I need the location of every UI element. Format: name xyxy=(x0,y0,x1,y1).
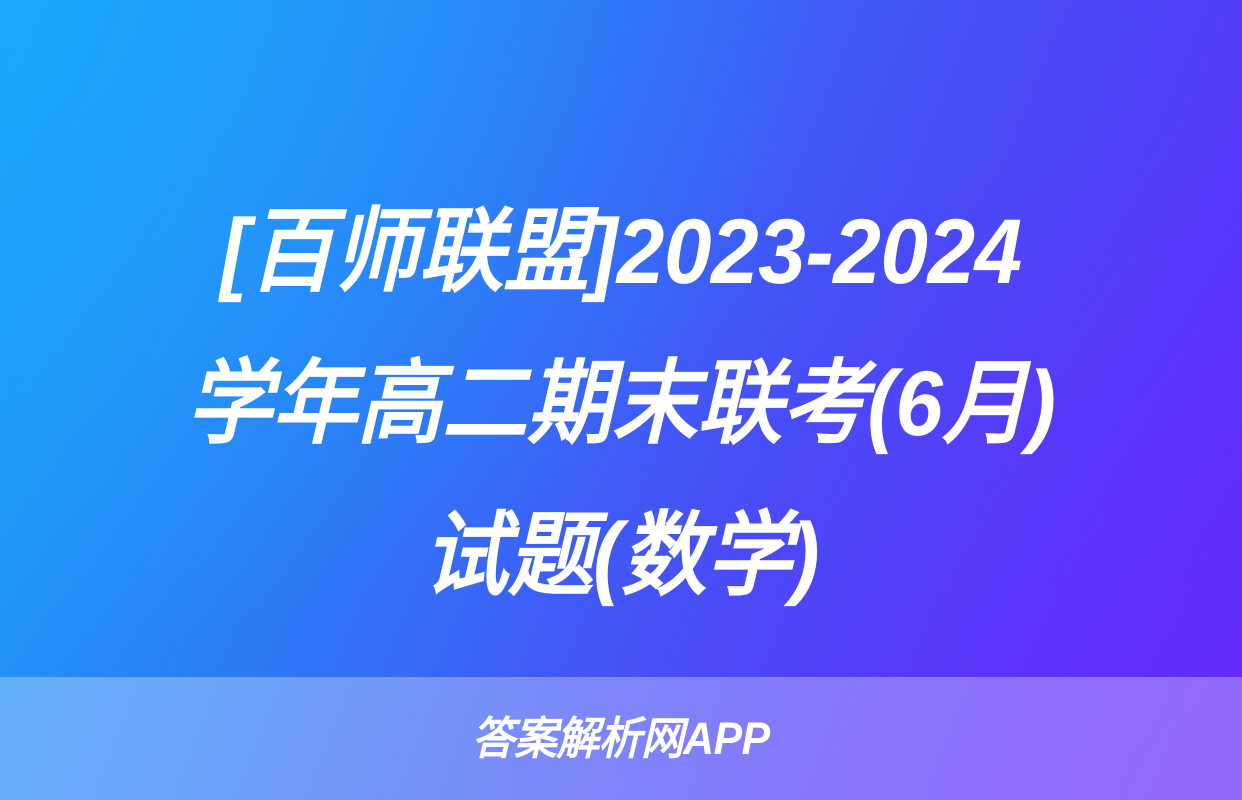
title-line-3: 试题(数学) xyxy=(86,480,1156,632)
title-line-1: [百师联盟]2023-2024 xyxy=(86,176,1156,328)
app-watermark-label: 答案解析网APP xyxy=(472,716,770,761)
exam-title-banner: [百师联盟]2023-2024 学年高二期末联考(6月) 试题(数学) 答案解析… xyxy=(0,0,1242,800)
banner-title-block: [百师联盟]2023-2024 学年高二期末联考(6月) 试题(数学) xyxy=(0,176,1242,632)
title-line-2: 学年高二期末联考(6月) xyxy=(86,328,1156,480)
footer-watermark-strip: 答案解析网APP xyxy=(0,677,1242,800)
